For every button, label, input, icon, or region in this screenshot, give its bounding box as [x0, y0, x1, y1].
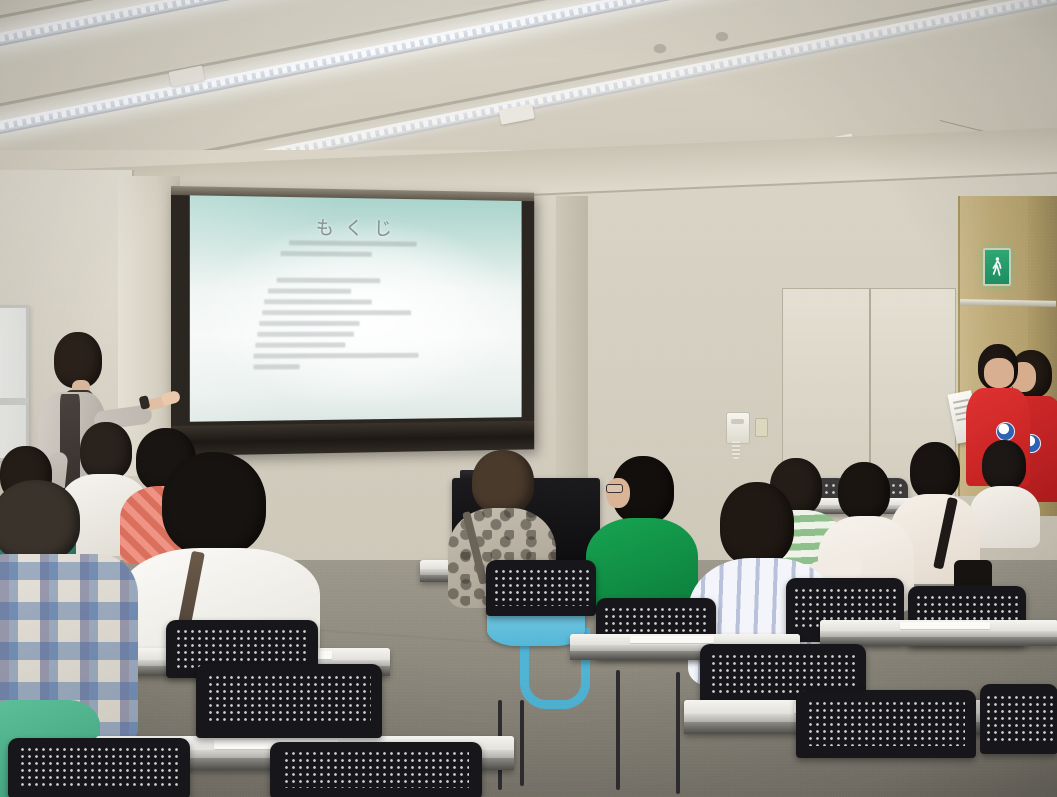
chair-leg: [616, 670, 620, 790]
chair-foreground[interactable]: [196, 664, 382, 738]
screen-surface: もくじ: [190, 195, 522, 421]
running-man-icon: [992, 256, 1002, 278]
projection-screen: もくじ: [171, 186, 534, 456]
head: [838, 462, 890, 520]
head: [162, 452, 266, 556]
presenter-wristwatch: [139, 395, 151, 410]
chair-foreground[interactable]: [8, 738, 190, 797]
wall-phone[interactable]: [726, 412, 750, 444]
desk-right: [820, 620, 1057, 646]
smoke-detector-icon: [654, 44, 666, 52]
head: [910, 442, 960, 500]
torso: [586, 518, 698, 610]
head: [720, 482, 794, 566]
whiteboard-marker-tray: [0, 398, 28, 405]
attendee-green-cardigan: [586, 456, 698, 606]
face-profile: [606, 478, 630, 508]
chair-right-front[interactable]: [980, 684, 1057, 754]
light-switch-plate[interactable]: [755, 418, 768, 437]
slide-body-text: [272, 240, 477, 375]
staff-1-badge: [996, 422, 1015, 441]
head: [472, 450, 534, 514]
wall-pillar: [556, 196, 588, 496]
head: [0, 480, 80, 562]
presenter-pointing-hand: [161, 390, 182, 406]
torso: [970, 486, 1040, 548]
chair-foreground[interactable]: [270, 742, 482, 797]
smoke-detector-icon: [716, 32, 728, 40]
chair-leg: [520, 700, 524, 786]
phone-cord: [732, 441, 740, 459]
chair-right-front[interactable]: [796, 690, 976, 758]
chair-mid[interactable]: [486, 560, 596, 616]
glasses-icon: [606, 484, 623, 493]
chair-leg: [676, 672, 680, 794]
head: [982, 440, 1026, 490]
handout-paper: [630, 636, 714, 643]
slide-title: もくじ: [190, 211, 522, 242]
attendee-white-cardigan-2: [826, 462, 904, 592]
handout-paper: [900, 622, 990, 629]
whiteboard: [0, 305, 29, 461]
seminar-room-photo: もくじ: [0, 0, 1057, 797]
attendee-back-right: [974, 440, 1038, 530]
emergency-exit-sign: [983, 248, 1011, 286]
staff-1-face: [984, 358, 1014, 388]
